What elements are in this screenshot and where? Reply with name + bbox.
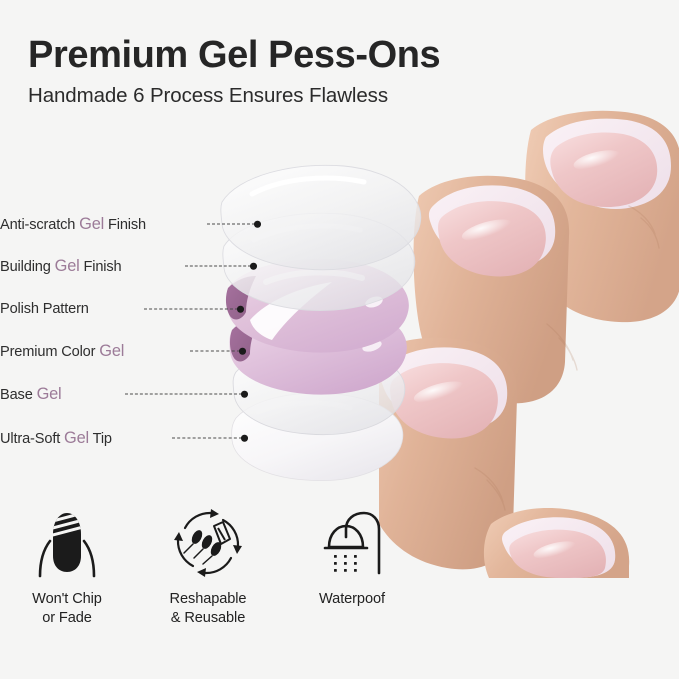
water-droplets — [334, 555, 357, 572]
leader-line-2 — [185, 266, 251, 268]
recycle-nails-icon — [171, 506, 245, 580]
finger-pinky — [484, 508, 629, 578]
leader-line-3 — [144, 309, 238, 311]
leader-line-1 — [207, 224, 255, 226]
label-row-premium-color: Premium Color Gel — [0, 341, 124, 361]
label-text-base-gel: Base Gel — [0, 384, 62, 405]
label-row-anti-scratch: Anti-scratch Gel Finish — [0, 214, 146, 234]
gel-highlight: Gel — [55, 257, 80, 275]
header: Premium Gel Pess-Ons Handmade 6 Process … — [28, 36, 440, 108]
feature-caption-2: Reshapable & Reusable — [133, 590, 283, 629]
feature-caption-3: Waterpoof — [277, 590, 427, 609]
leader-line-5 — [125, 394, 242, 396]
label-text-building: Building Gel Finish — [0, 256, 122, 277]
feature-icon-wrap-2 — [133, 506, 283, 580]
gel-highlight: Gel — [99, 342, 124, 360]
label-text-premium-color: Premium Color Gel — [0, 341, 124, 362]
label-row-polish-pattern: Polish Pattern — [0, 299, 89, 319]
nail-shapes — [190, 528, 224, 557]
product-infographic: Premium Gel Pess-Ons Handmade 6 Process … — [0, 0, 679, 679]
feature-badge-row: Won't Chip or Fade — [0, 506, 430, 646]
leader-dot-4 — [239, 348, 246, 355]
label-row-base-gel: Base Gel — [0, 384, 62, 404]
feature-icon-wrap-1 — [0, 506, 142, 580]
shower-head-icon — [319, 509, 385, 577]
label-text-anti-scratch: Anti-scratch Gel Finish — [0, 214, 146, 235]
layer-anti-scratch-gel-finish — [221, 165, 421, 269]
feature-wont-chip: Won't Chip or Fade — [0, 506, 142, 629]
feature-icon-wrap-3 — [277, 506, 427, 580]
gel-highlight: Gel — [79, 215, 104, 233]
feature-caption-1: Won't Chip or Fade — [0, 590, 142, 629]
feature-waterproof: Waterpoof — [277, 506, 427, 609]
label-row-building: Building Gel Finish — [0, 256, 122, 276]
page-subtitle: Handmade 6 Process Ensures Flawless — [28, 84, 440, 108]
gel-highlight: Gel — [37, 385, 62, 403]
leader-dot-3 — [237, 306, 244, 313]
leader-line-4 — [190, 351, 240, 353]
feature-reshapable: Reshapable & Reusable — [133, 506, 283, 629]
page-title: Premium Gel Pess-Ons — [28, 36, 440, 76]
leader-dot-5 — [241, 391, 248, 398]
leader-line-6 — [172, 438, 242, 440]
leader-dot-6 — [241, 435, 248, 442]
label-text-ultra-soft: Ultra-Soft Gel Tip — [0, 428, 112, 449]
label-row-ultra-soft: Ultra-Soft Gel Tip — [0, 428, 112, 448]
striped-nail-icon — [35, 508, 99, 578]
leader-dot-1 — [254, 221, 261, 228]
label-text-polish-pattern: Polish Pattern — [0, 299, 89, 319]
leader-dot-2 — [250, 263, 257, 270]
gel-highlight: Gel — [64, 429, 89, 447]
